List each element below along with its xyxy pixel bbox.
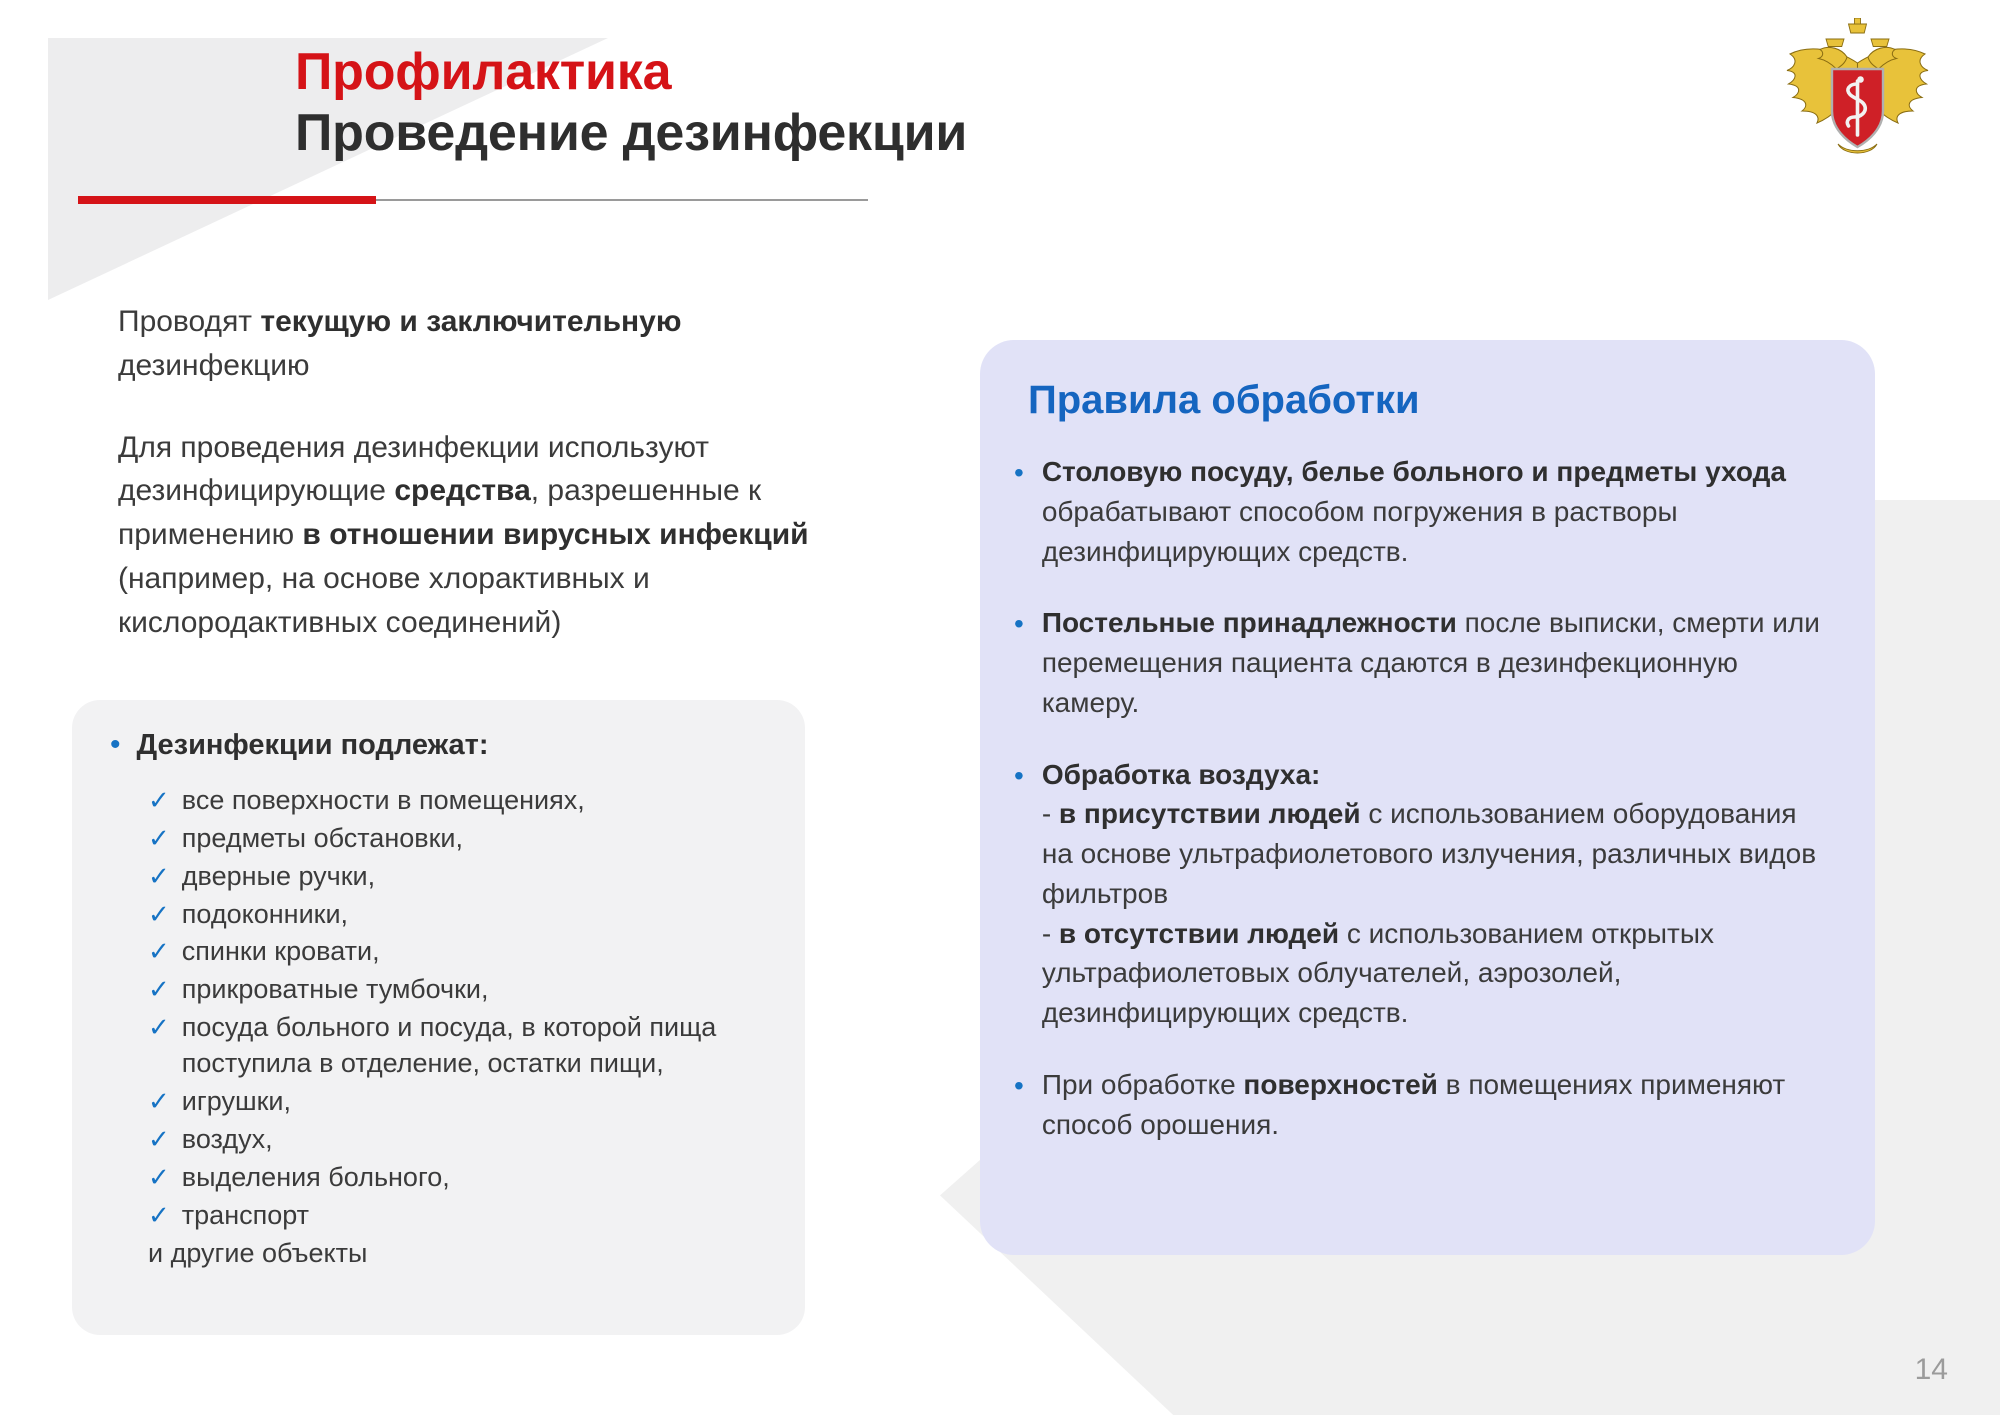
check-icon: ✓ [148,1010,170,1045]
list-item-label: транспорт [182,1198,771,1234]
check-icon: ✓ [148,897,170,932]
intro-paragraph-2: Для проведения дезинфекции используют де… [118,426,818,645]
check-icon: ✓ [148,821,170,856]
list-item: ✓спинки кровати, [148,934,771,970]
list-item-label: При обработке поверхностей в помещениях … [1042,1065,1831,1145]
page-number: 14 [1915,1353,1948,1387]
list-item: ✓подоконники, [148,897,771,933]
list-item: ✓воздух, [148,1122,771,1158]
list-item-label: посуда больного и посуда, в которой пища… [182,1010,771,1082]
processing-rules-list: •Столовую посуду, белье больного и предм… [1014,452,1831,1144]
list-item: ✓игрушки, [148,1084,771,1120]
title-underline [78,196,868,204]
list-item: •Обработка воздуха:- в присутствии людей… [1014,755,1831,1033]
slide-header: Профилактика Проведение дезинфекции [0,0,2000,230]
list-item-label: выделения больного, [182,1160,771,1196]
list-item: ✓прикроватные тумбочки, [148,972,771,1008]
list-item: ✓выделения больного, [148,1160,771,1196]
list-item: ✓предметы обстановки, [148,821,771,857]
list-item: ✓все поверхности в помещениях, [148,783,771,819]
disinfection-check-list: ✓все поверхности в помещениях,✓предметы … [106,783,771,1234]
list-item-label: Обработка воздуха:- в присутствии людей … [1042,755,1831,1033]
list-item-label: игрушки, [182,1084,771,1120]
subject-to-disinfection-card: • Дезинфекции подлежат: ✓все поверхности… [72,700,805,1335]
check-icon: ✓ [148,859,170,894]
list-item-label: дверные ручки, [182,859,771,895]
list-item-label: подоконники, [182,897,771,933]
list-item: •Столовую посуду, белье больного и предм… [1014,452,1831,571]
intro-paragraph-1: Проводят текущую и заключительную дезинф… [118,300,818,388]
check-icon: ✓ [148,972,170,1007]
list-item-label: Постельные принадлежности после выписки,… [1042,603,1831,722]
title-underline-red [78,196,376,204]
list-item: •Постельные принадлежности после выписки… [1014,603,1831,722]
list-item-label: воздух, [182,1122,771,1158]
page-title: Профилактика Проведение дезинфекции [295,42,967,165]
check-icon: ✓ [148,934,170,969]
list-item-label: Столовую посуду, белье больного и предме… [1042,452,1831,571]
list-item: ✓посуда больного и посуда, в которой пищ… [148,1010,771,1082]
list-item: •При обработке поверхностей в помещениях… [1014,1065,1831,1145]
page-title-top: Профилактика [295,42,967,103]
title-underline-grey [376,199,868,201]
bullet-dot-icon: • [1014,603,1024,645]
page-title-main: Проведение дезинфекции [295,103,967,164]
left-intro-column: Проводят текущую и заключительную дезинф… [118,300,818,683]
card-heading-row: • Дезинфекции подлежат: [106,728,771,763]
check-icon: ✓ [148,783,170,818]
check-list-tail: и другие объекты [106,1236,771,1272]
list-item-label: предметы обстановки, [182,821,771,857]
bullet-dot-icon: • [106,728,121,761]
processing-rules-panel: Правила обработки •Столовую посуду, бель… [980,340,1875,1255]
list-item: ✓транспорт [148,1198,771,1234]
list-item-label: спинки кровати, [182,934,771,970]
card-heading-label: Дезинфекции подлежат: [137,728,489,763]
check-icon: ✓ [148,1198,170,1233]
check-icon: ✓ [148,1122,170,1157]
list-item: ✓дверные ручки, [148,859,771,895]
check-icon: ✓ [148,1084,170,1119]
bullet-dot-icon: • [1014,1065,1024,1107]
list-item-label: все поверхности в помещениях, [182,783,771,819]
panel-title-label: Правила обработки [1028,376,1831,424]
russian-ministry-of-health-emblem-icon [1775,18,1940,168]
slide: Профилактика Проведение дезинфекции [0,0,2000,1415]
bullet-dot-icon: • [1014,755,1024,797]
bullet-dot-icon: • [1014,452,1024,494]
list-item-label: прикроватные тумбочки, [182,972,771,1008]
check-icon: ✓ [148,1160,170,1195]
